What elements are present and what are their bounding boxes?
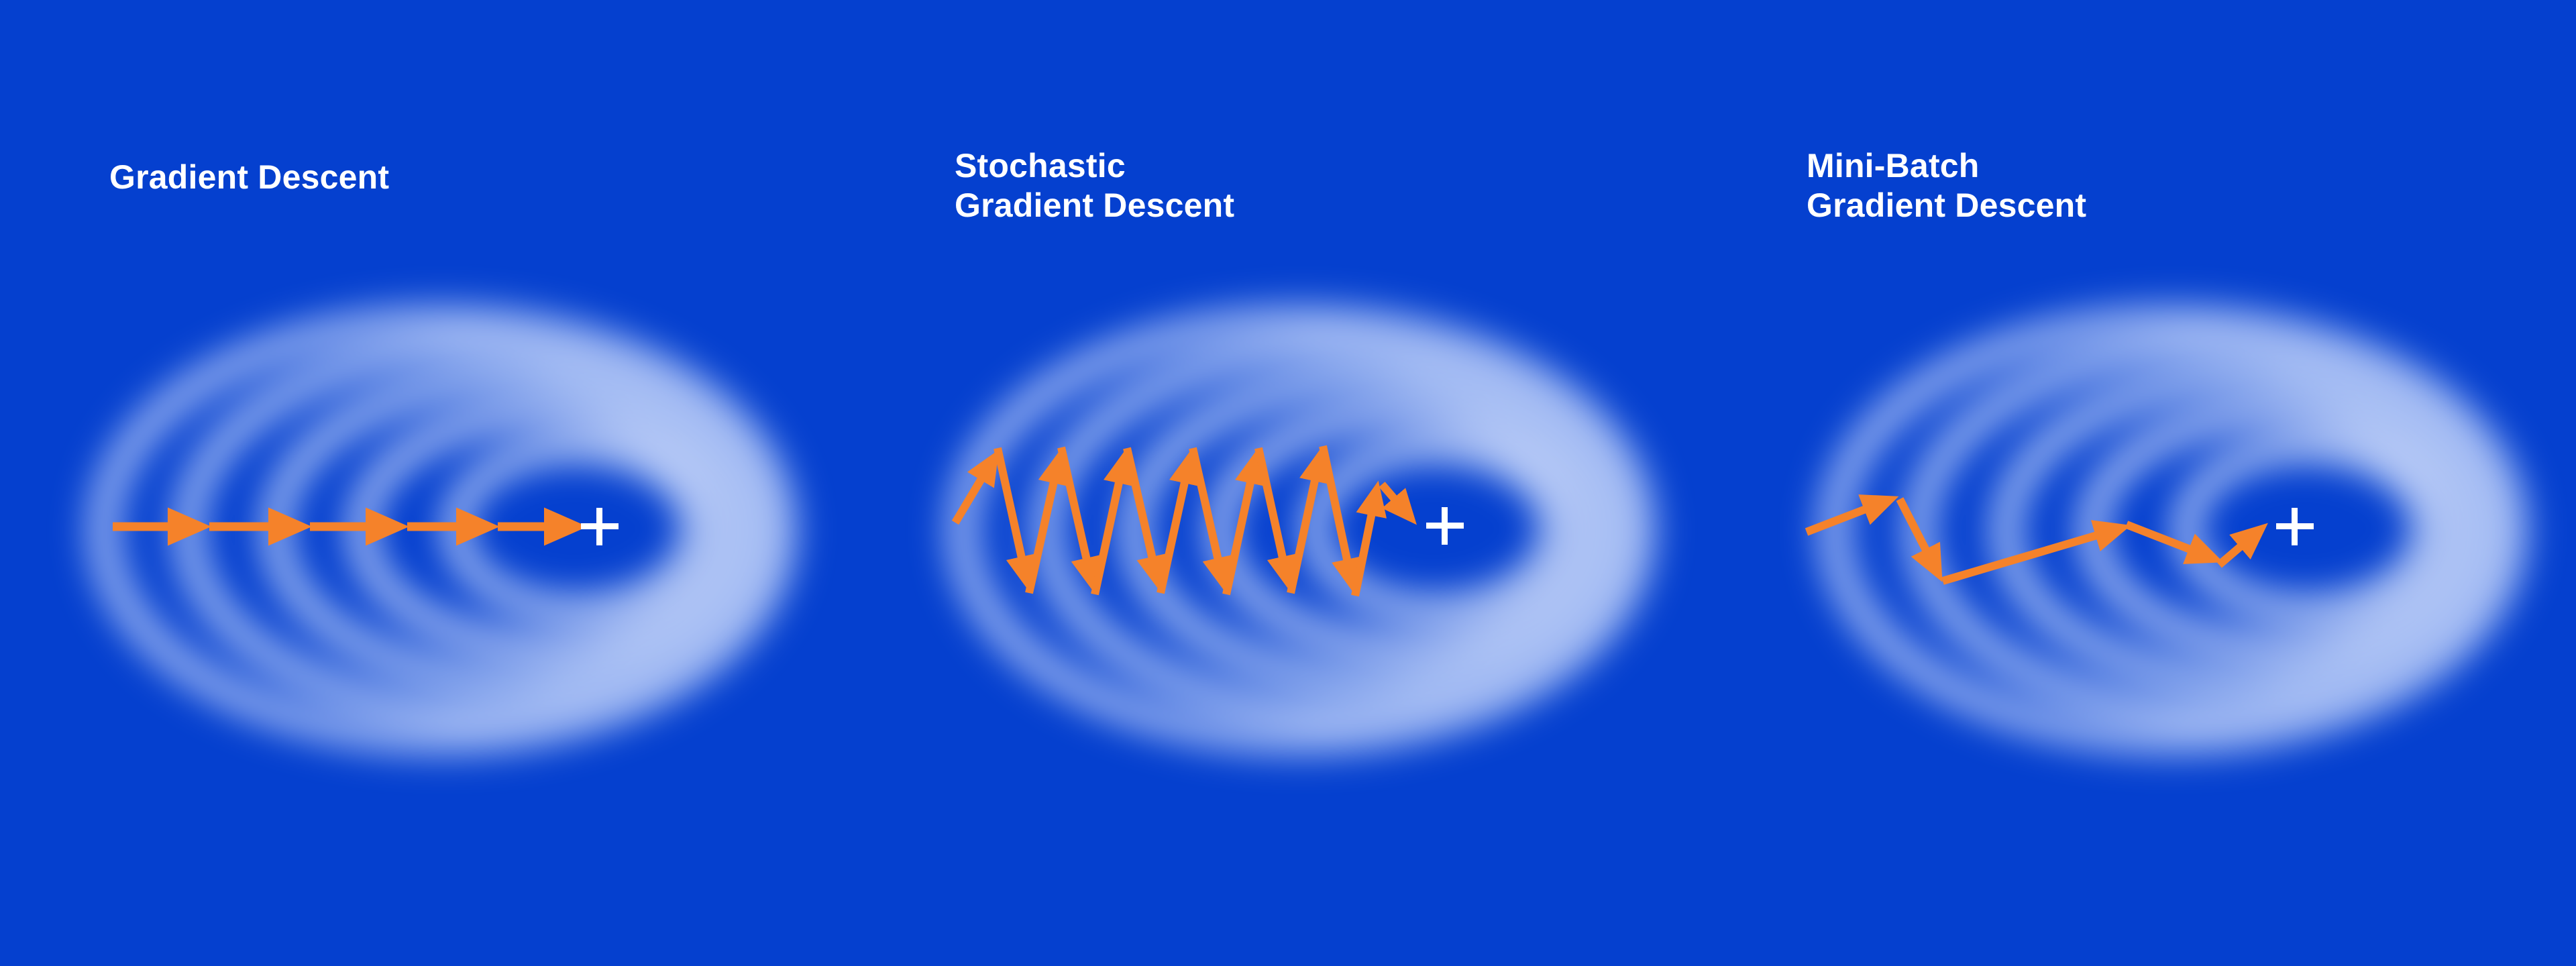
minimum-marker-1 (581, 508, 619, 545)
plot-mini-batch-gradient-descent (1717, 0, 2576, 966)
panel-stochastic-gradient-descent: StochasticGradient Descent (859, 0, 1717, 966)
minimum-marker-2 (1426, 507, 1464, 545)
plot-stochastic-gradient-descent (859, 0, 1717, 966)
figure-root: Gradient Descent (0, 0, 2576, 966)
minimum-marker-3 (2276, 508, 2314, 545)
sgd-arrow-2 (998, 448, 1027, 582)
sgd-arrow-7 (1161, 458, 1190, 593)
mb-arrow-4 (2127, 525, 2214, 559)
sgd-arrow-13 (1355, 490, 1377, 596)
sgd-arrow-5 (1095, 458, 1124, 594)
sgd-arrow-10 (1258, 448, 1288, 582)
mb-arrow-5 (2219, 529, 2261, 565)
contour-rings-3 (1834, 321, 2513, 739)
sgd-arrow-14 (1382, 484, 1411, 518)
plot-gradient-descent (0, 0, 859, 966)
panel-mini-batch-gradient-descent: Mini-BatchGradient Descent (1717, 0, 2576, 966)
panel-gradient-descent: Gradient Descent (0, 0, 859, 966)
